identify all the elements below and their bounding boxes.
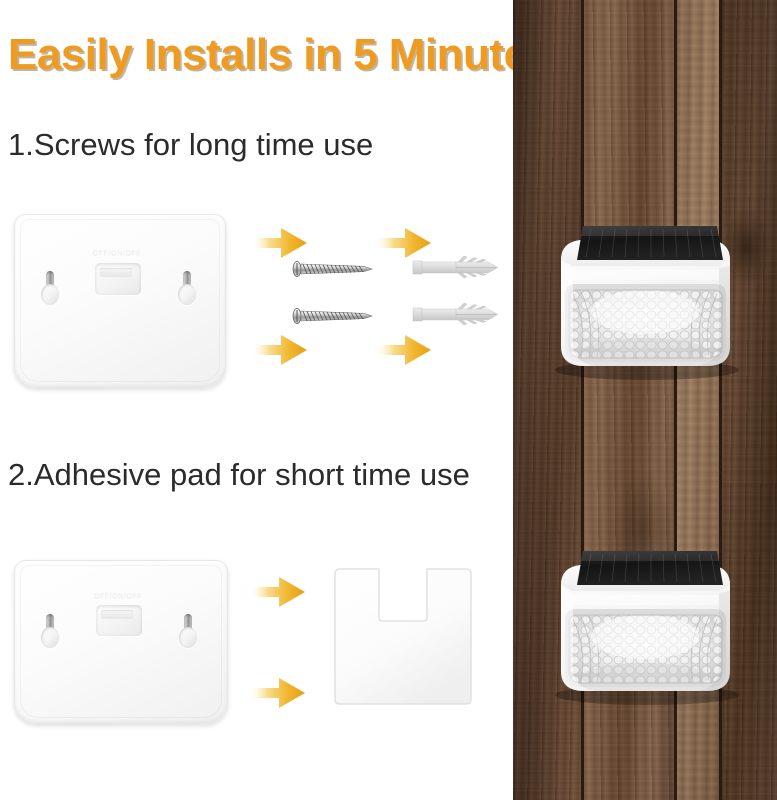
page-title: Easily Installs in 5 Minutes — [8, 30, 552, 80]
mounting-bracket-step1: OFF/ON/OFF — [14, 214, 226, 388]
wall-anchor-1 — [412, 253, 504, 281]
switch-nub-1 — [100, 268, 132, 277]
solar-wall-light-2 — [547, 545, 744, 705]
screw-1 — [292, 258, 380, 280]
bracket-emboss-label-2: OFF/ON/OFF — [58, 594, 178, 601]
mounting-bracket-step2: OFF/ON/OFF — [14, 560, 228, 724]
infographic-page: Easily Installs in 5 Minutes 1.Screws fo… — [0, 0, 777, 800]
keyhole-slot-bore — [41, 627, 59, 648]
adhesive-pad — [327, 568, 479, 708]
keyhole-slot-bore — [179, 627, 197, 648]
keyhole-slot-left-1 — [41, 271, 59, 309]
step-2-heading: 2.Adhesive pad for short time use — [8, 457, 470, 493]
keyhole-slot-bore — [178, 284, 196, 305]
keyhole-slot-left-2 — [41, 614, 59, 652]
step-1-heading: 1.Screws for long time use — [8, 127, 373, 163]
keyhole-slot-right-2 — [179, 614, 197, 652]
right-arrow-2 — [253, 333, 307, 367]
solar-wall-light-1 — [547, 220, 744, 380]
power-switch-window-2[interactable] — [96, 605, 142, 636]
right-arrow-1 — [253, 226, 307, 260]
right-arrow-6 — [251, 676, 305, 710]
keyhole-slot-right-1 — [178, 271, 196, 309]
right-arrow-5 — [251, 575, 305, 609]
wall-anchor-2 — [412, 300, 504, 328]
keyhole-slot-bore — [41, 284, 59, 305]
screw-2 — [292, 305, 380, 327]
switch-nub-2 — [101, 610, 133, 619]
right-arrow-4 — [377, 333, 431, 367]
power-switch-window-1[interactable] — [95, 263, 141, 295]
bracket-emboss-label-1: OFF/ON/OFF — [57, 251, 177, 258]
